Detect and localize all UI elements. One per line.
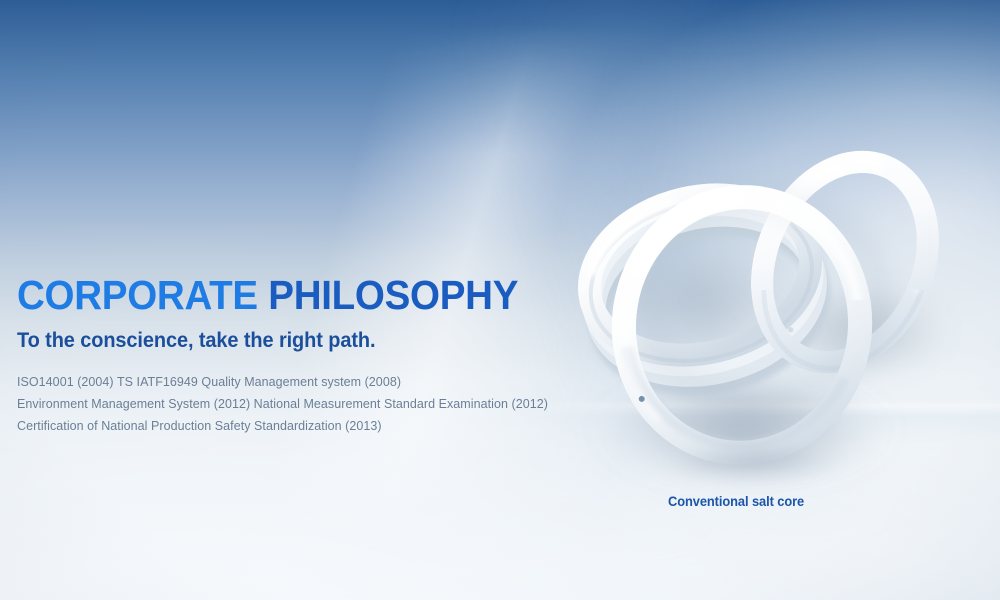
certification-list: ISO14001 (2004) TS IATF16949 Quality Man…: [17, 371, 657, 437]
certification-line: Environment Management System (2012) Nat…: [17, 393, 657, 415]
certification-line: ISO14001 (2004) TS IATF16949 Quality Man…: [17, 371, 657, 393]
certification-line: Certification of National Production Saf…: [17, 415, 657, 437]
banner-text-block: CORPORATE PHILOSOPHY To the conscience, …: [17, 272, 657, 437]
corporate-philosophy-banner: CORPORATE PHILOSOPHY To the conscience, …: [0, 0, 1000, 600]
page-subtitle: To the conscience, take the right path.: [17, 328, 625, 354]
headline-word-corporate: CORPORATE: [17, 272, 258, 318]
headline-word-philosophy: PHILOSOPHY: [268, 272, 518, 318]
product-caption: Conventional salt core: [668, 493, 804, 509]
page-title: CORPORATE PHILOSOPHY: [17, 272, 619, 319]
